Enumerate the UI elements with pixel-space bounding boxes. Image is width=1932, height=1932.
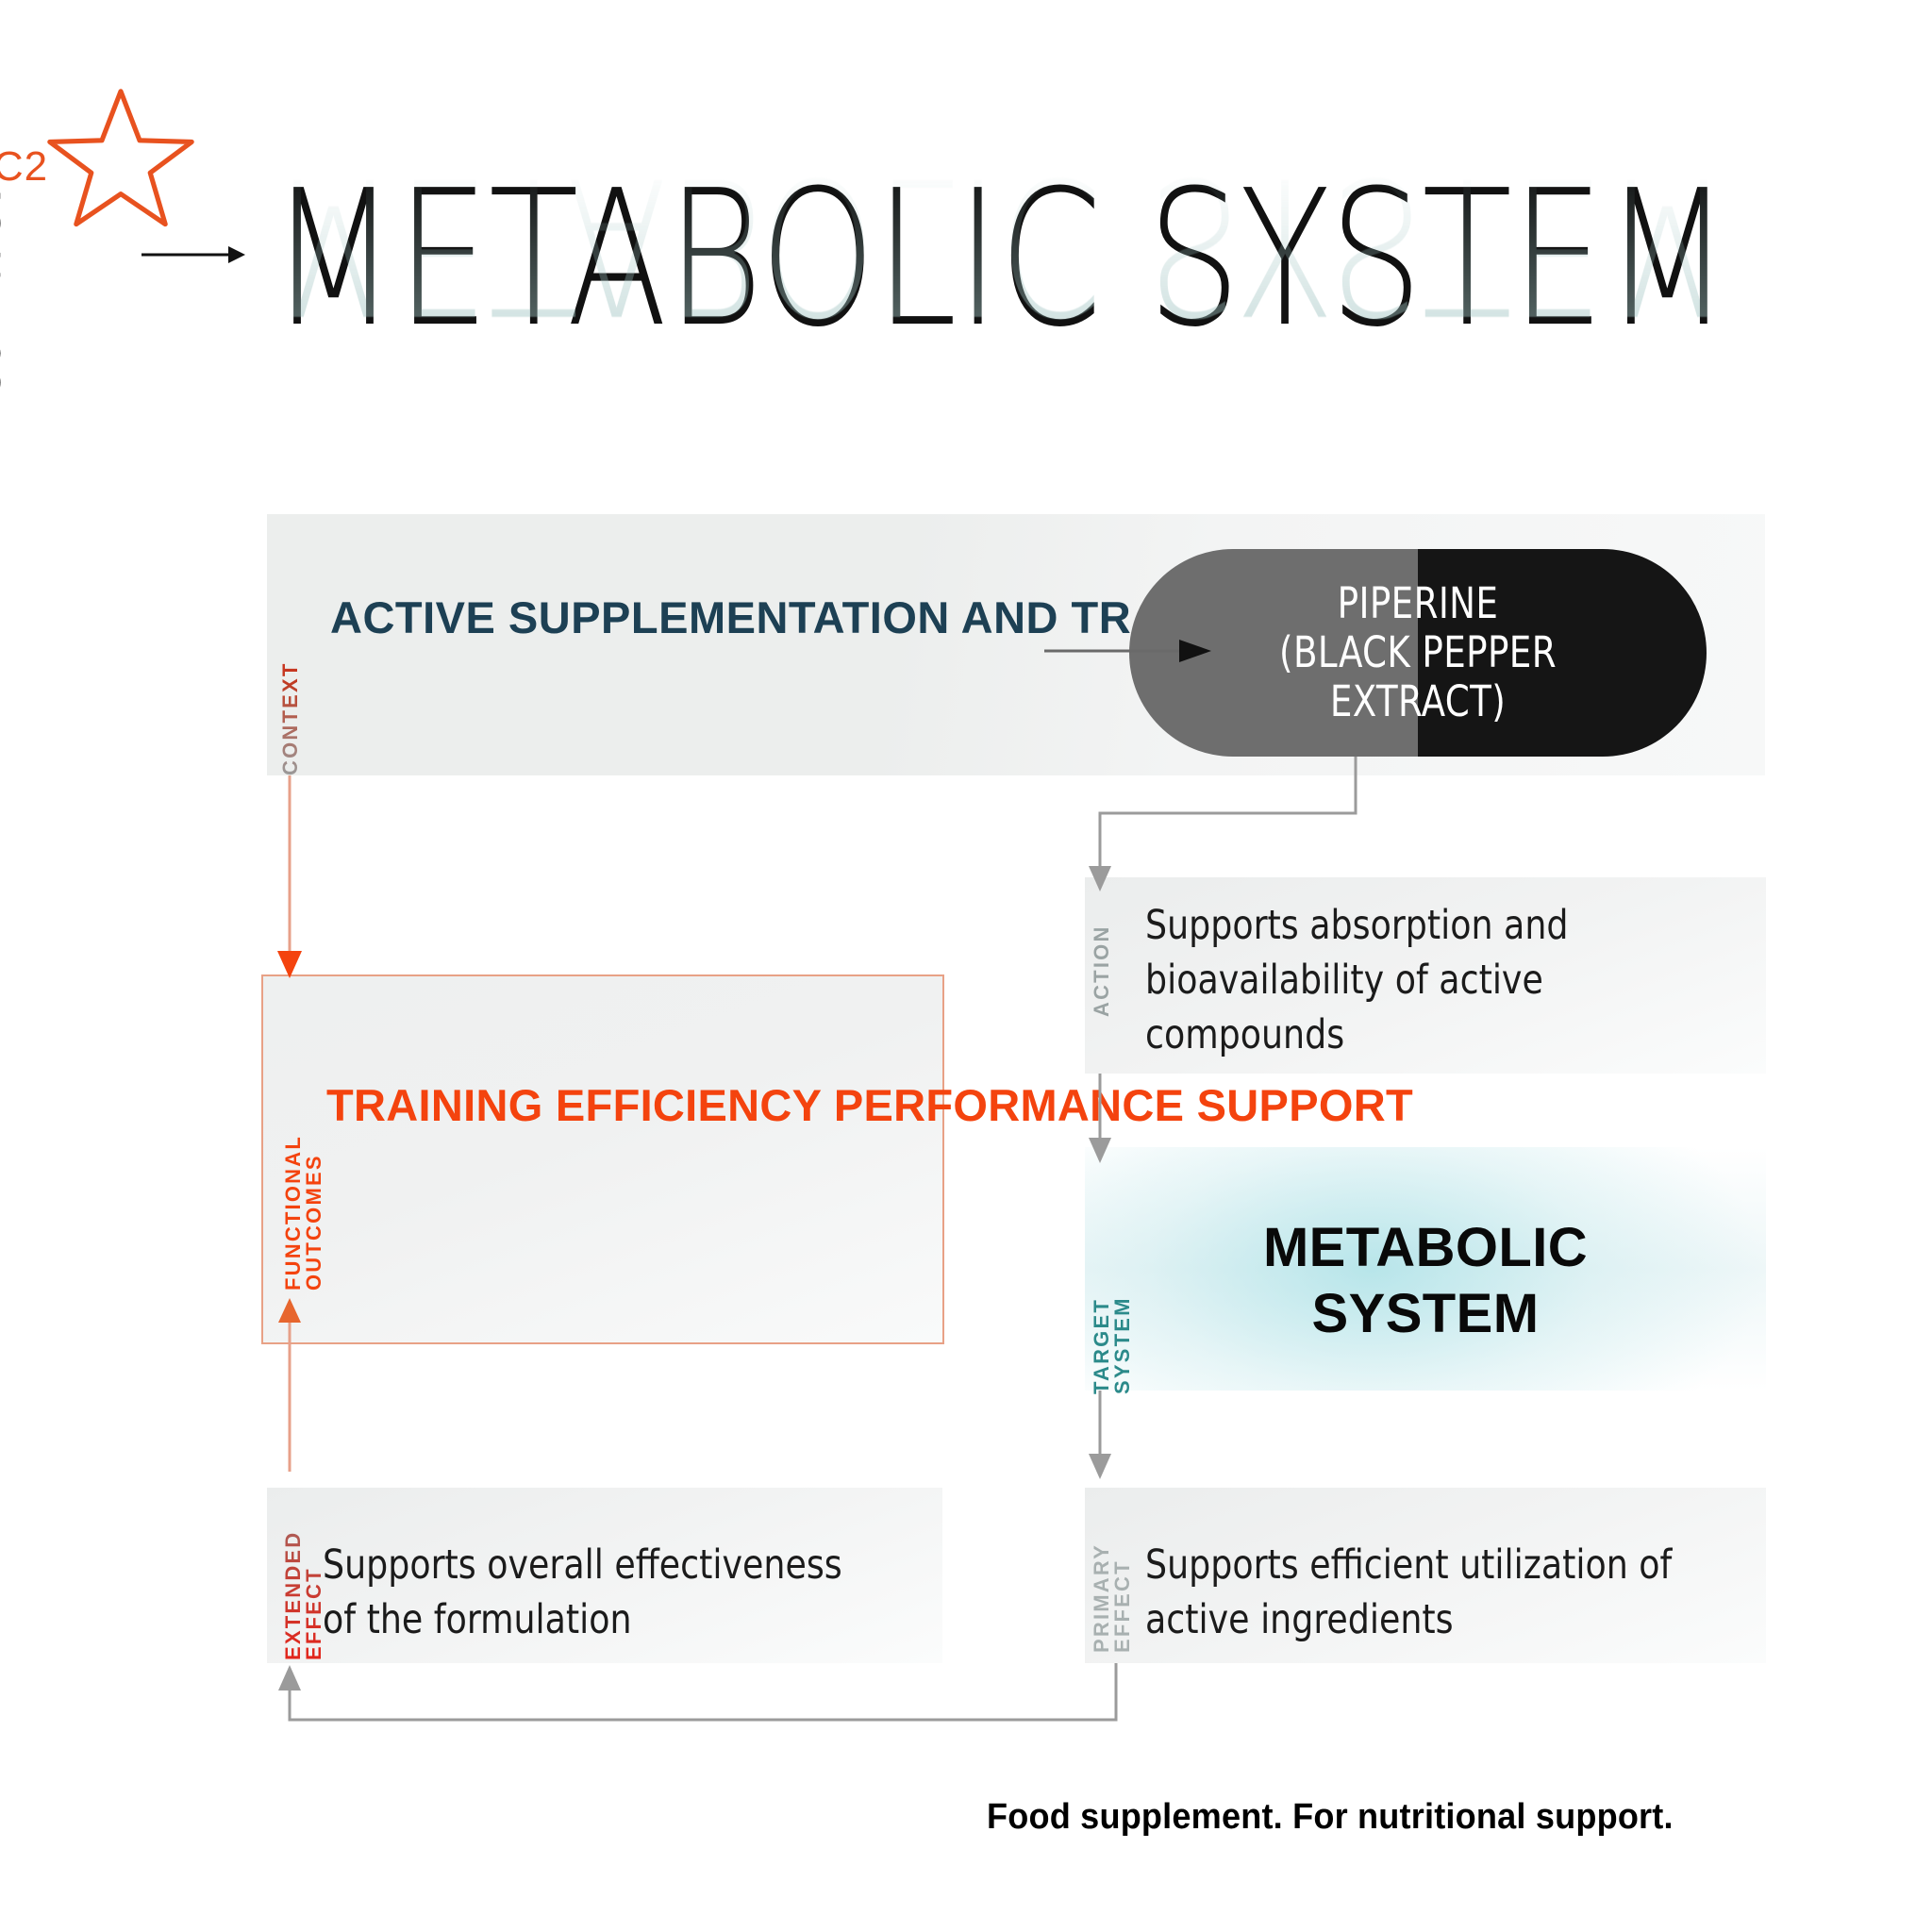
target-system-text: METABOLIC SYSTEM [1085, 1215, 1766, 1346]
footer-disclaimer: Food supplement. For nutritional support… [987, 1797, 1674, 1838]
brand-name-bold: STEAM [0, 88, 9, 237]
rail-label-context: CONTEXT [280, 606, 301, 775]
rail-label-functional-outcomes: FUNCTIONAL OUTCOMES [283, 998, 325, 1291]
functional-outcomes-box [261, 974, 944, 1344]
functional-outcomes-heading: TRAINING EFFICIENCY PERFORMANCE SUPPORT [326, 1075, 1413, 1137]
wire-context-to-functional-outcomes [277, 775, 302, 978]
action-text: Supports absorption and bioavailability … [1145, 898, 1568, 1062]
rail-label-extended-effect: EXTENDED EFFECT [283, 1457, 325, 1660]
primary-effect-text: Supports efficient utilization of active… [1145, 1538, 1672, 1647]
page-title-reflection: METABOLIC SYSTEM [270, 150, 1730, 338]
rail-label-action: ACTION [1091, 885, 1112, 1017]
extended-effect-text: Supports overall effectiveness of the fo… [323, 1538, 842, 1647]
rail-label-primary-effect: PRIMARY EFFECT [1091, 1453, 1133, 1653]
brand-name: SUPER STEAM [0, 88, 10, 396]
brand-name-light: SUPER [0, 237, 9, 396]
brand-arrow-icon [142, 243, 245, 266]
ingredient-pill: PIPERINE (BLACK PEPPER EXTRACT) [1129, 549, 1707, 757]
star-logo-icon [45, 87, 196, 230]
infographic-canvas: C2 SUPER STEAM METABOLIC SYSTEM METABOLI… [0, 0, 1932, 1932]
wire-pill-to-action [1089, 757, 1356, 891]
ingredient-pill-label: PIPERINE (BLACK PEPPER EXTRACT) [1152, 549, 1683, 757]
wire-primary-to-extended-feedback [278, 1663, 1116, 1720]
